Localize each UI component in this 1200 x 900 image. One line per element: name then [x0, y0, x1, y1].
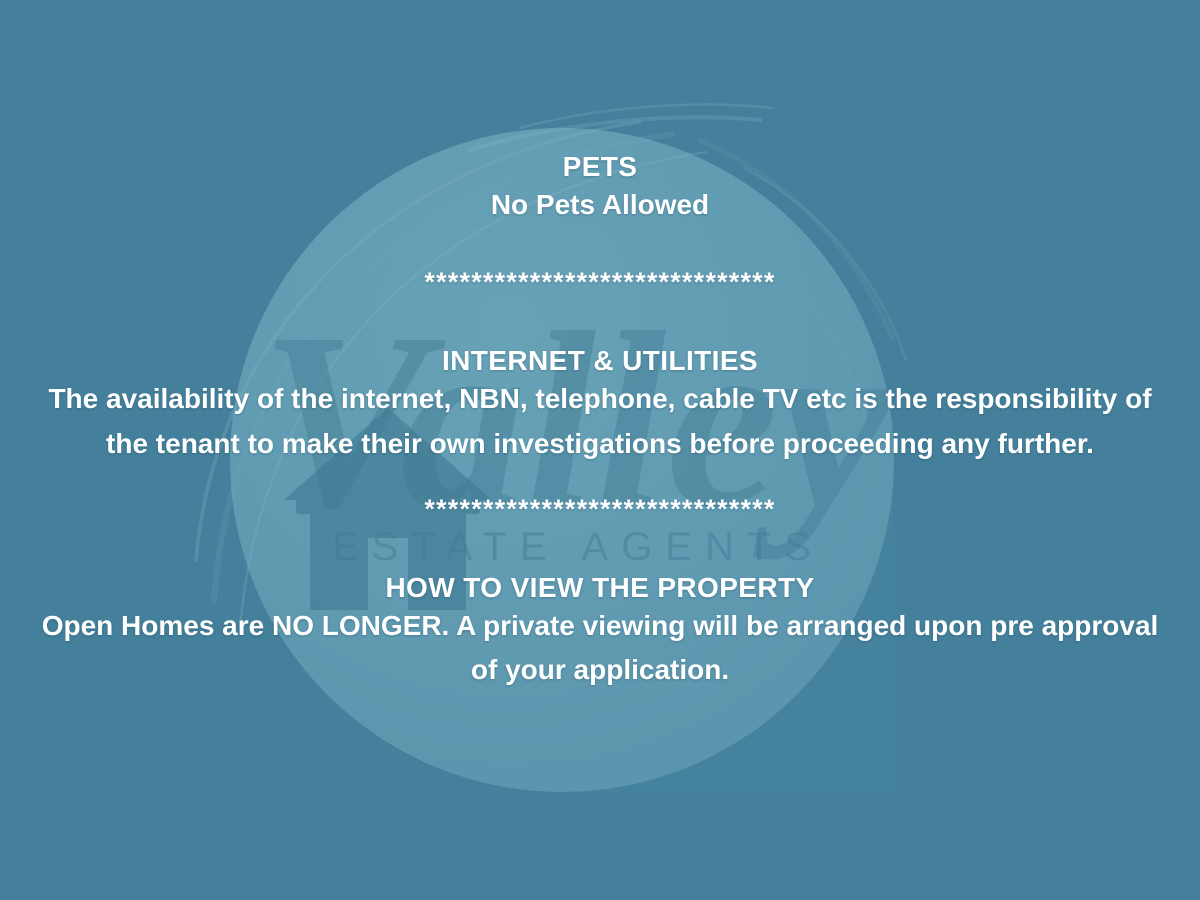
section-pets: PETS No Pets Allowed	[40, 150, 1160, 227]
notice-content: PETS No Pets Allowed *******************…	[0, 0, 1200, 900]
how-to-view-heading: HOW TO VIEW THE PROPERTY	[40, 571, 1160, 604]
pets-heading: PETS	[40, 150, 1160, 183]
how-to-view-body: Open Homes are NO LONGER. A private view…	[40, 604, 1160, 692]
section-how-to-view: HOW TO VIEW THE PROPERTY Open Homes are …	[40, 571, 1160, 693]
internet-utilities-body: The availability of the internet, NBN, t…	[40, 377, 1160, 465]
section-internet-utilities: INTERNET & UTILITIES The availability of…	[40, 344, 1160, 466]
divider-two-wrap: ******************************	[40, 496, 1160, 523]
divider-one: ******************************	[40, 269, 1160, 296]
divider-one-wrap: ******************************	[40, 269, 1160, 296]
pets-body: No Pets Allowed	[40, 183, 1160, 227]
divider-two: ******************************	[40, 496, 1160, 523]
notice-slide: Valley ESTATE AGENTS PETS No Pets Allowe…	[0, 0, 1200, 900]
internet-utilities-heading: INTERNET & UTILITIES	[40, 344, 1160, 377]
